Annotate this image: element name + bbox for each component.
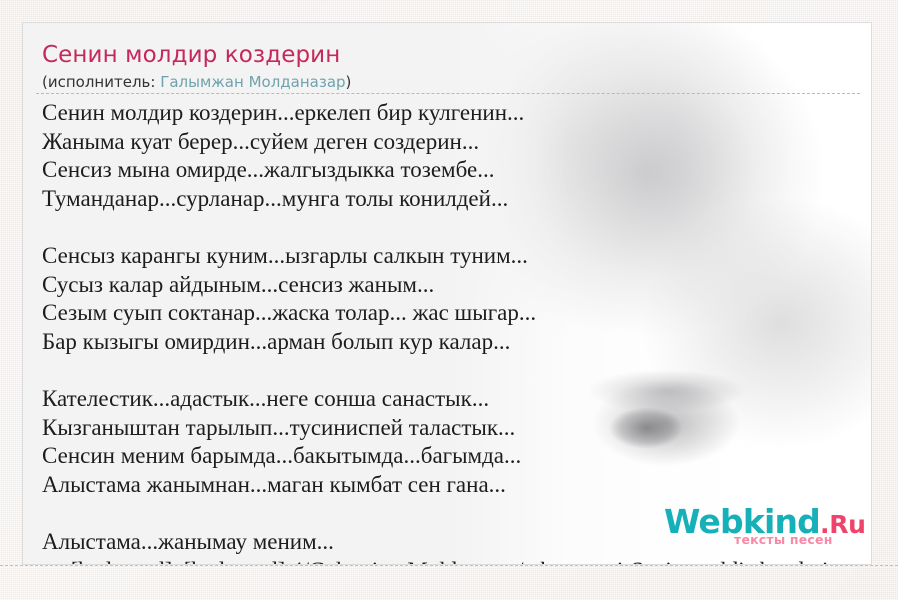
header-divider [36,93,860,94]
webkind-logo[interactable]: Webkind.Ru тексты песен [658,502,860,554]
lyrics-line: Кателестик...адастык...неге сонша санаст… [42,385,872,414]
lyrics-line: Сенин молдир коздерин...еркелеп бир кулг… [42,99,872,128]
lyrics-line: Бар кызыгы омирдин...арман болып кур кал… [42,328,872,357]
performer-prefix-label: (исполнитель: [42,73,160,91]
page-title: Сенин молдир коздерин [42,42,340,68]
performer-link[interactable]: Галымжан Молданазар [160,73,345,91]
lyrics-line: Сенсин меним барымда...бакытымда...багым… [42,442,872,471]
lyrics-line: Сенсыз карангы куним...ызгарлы салкын ту… [42,242,872,271]
footer-divider [0,565,898,566]
lyrics-blank-line [42,213,872,242]
lyrics-content-card: Сенин молдир коздерин (исполнитель: Галы… [22,22,872,565]
lyrics-line: Алыстама жанымнан...маган кымбат сен ган… [42,471,872,500]
lyrics-line: Сенсиз мына омирде...жалгыздыкка тозембе… [42,156,872,185]
lyrics-line: → [bad word] [bad word] 4/Galymjan-Molda… [42,557,872,566]
lyrics-line: Кызганыштан тарылып...тусиниспей таласты… [42,414,872,443]
lyrics-line: Жаныма куат берер...суйем деген создерин… [42,128,872,157]
lyrics-line: Сезым суып соктанар...жаска толар... жас… [42,299,872,328]
lyrics-line: Сусыз калар айдыным...сенсиз жаным... [42,271,872,300]
lyrics-line: Туманданар...сурланар...мунга толы конил… [42,185,872,214]
performer-line: (исполнитель: Галымжан Молданазар) [42,73,351,91]
lyrics-text-block: Сенин молдир коздерин...еркелеп бир кулг… [42,99,872,565]
webkind-tagline: тексты песен [734,532,833,547]
performer-suffix-label: ) [346,73,352,91]
lyrics-blank-line [42,356,872,385]
